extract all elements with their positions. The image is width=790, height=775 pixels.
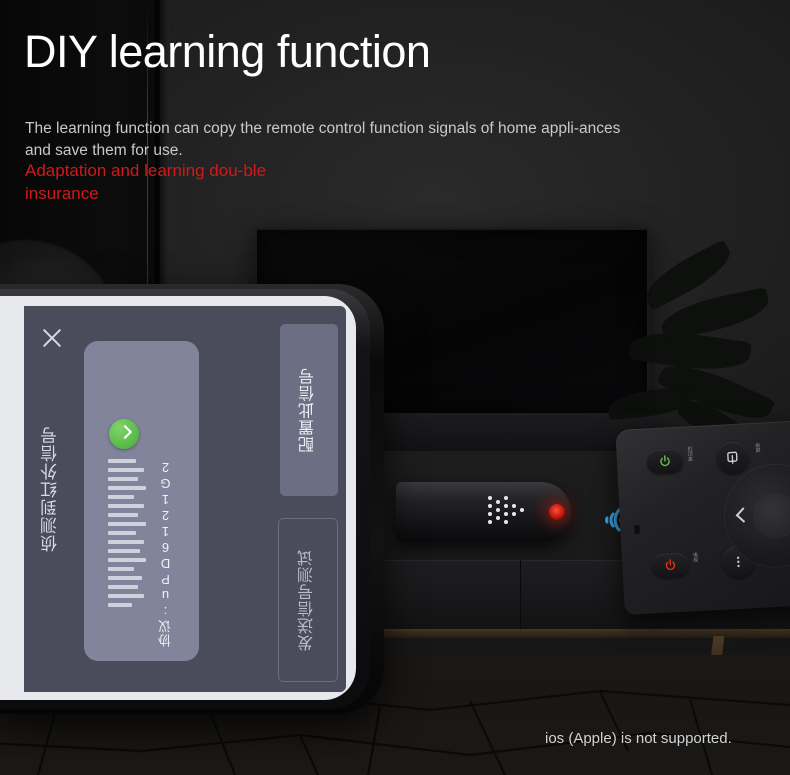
phone-screen: 侦测到红外信号 [0, 296, 356, 700]
screenshot-button[interactable] [716, 441, 750, 475]
tv-remote-control: 机顶盒 投屏 电视 菜单 [615, 420, 790, 615]
close-icon[interactable] [38, 324, 66, 352]
detect-label: 侦测到红外信号 [38, 426, 63, 552]
product-marketing-banner: 机顶盒 投屏 电视 菜单 [0, 0, 790, 775]
signal-preview-panel: 协议:uPD6121G2 [84, 341, 199, 661]
power-red-button[interactable] [652, 552, 689, 578]
compatibility-footnote: ios (Apple) is not supported. [545, 730, 732, 747]
chevron-left-icon [736, 507, 752, 523]
page-title: DIY learning function [24, 29, 430, 74]
dotted-arrow-icon [488, 492, 538, 532]
chevron-right-icon [109, 419, 139, 449]
power-red-label: 电视 [692, 552, 700, 562]
ir-led-icon [549, 504, 565, 520]
screenshot-label: 投屏 [754, 442, 762, 452]
power-green-label: 机顶盒 [686, 446, 694, 461]
configure-signal-button[interactable]: 配置此信号 [280, 324, 338, 496]
power-green-button[interactable] [646, 449, 683, 475]
ir-signal-dialog: 侦测到红外信号 [24, 306, 346, 692]
ir-blaster-dongle [396, 482, 571, 542]
ir-waveform-graphic [108, 459, 148, 609]
body-copy: The learning function can copy the remot… [25, 118, 633, 162]
dpad-center-button[interactable] [752, 492, 790, 540]
send-signal-test-label: 发送信号测试 [296, 549, 320, 651]
highlight-copy: Adaptation and learning dou-ble insuranc… [25, 160, 295, 206]
remote-indicator-led [634, 525, 639, 534]
protocol-label: 协议:uPD6121G2 [156, 459, 175, 647]
send-signal-test-button[interactable]: 发送信号测试 [278, 518, 338, 682]
smartphone: 侦测到红外信号 [0, 284, 384, 714]
console-seam [520, 560, 521, 632]
configure-signal-label: 配置此信号 [297, 368, 321, 453]
